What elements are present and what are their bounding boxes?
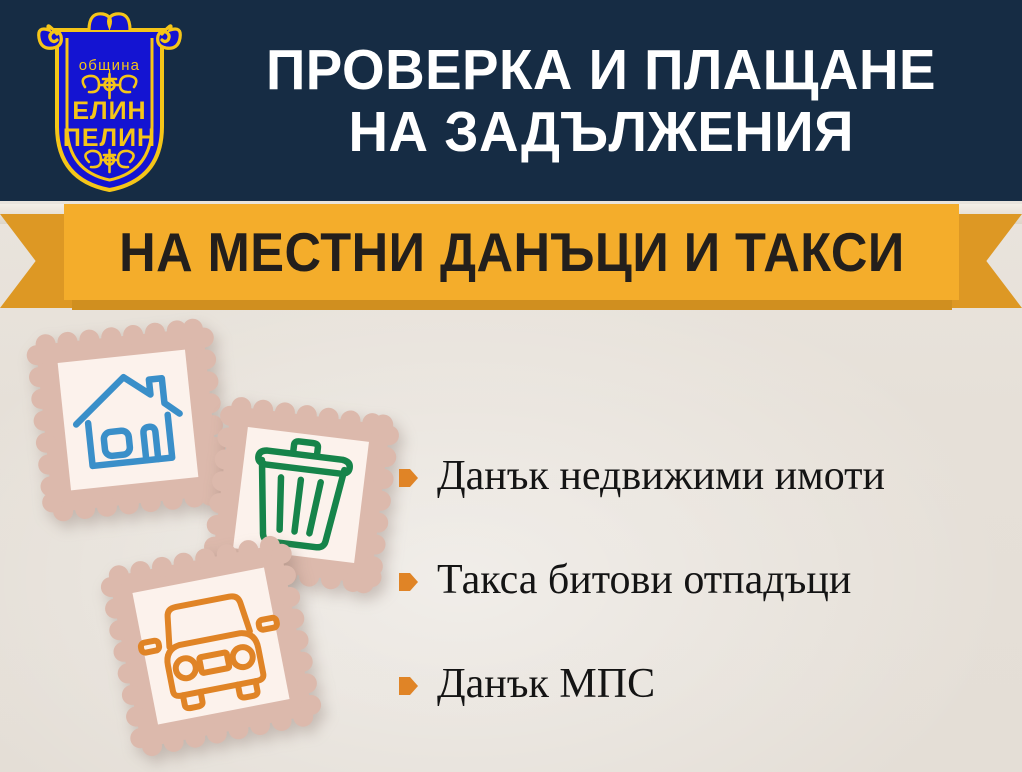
page-title: ПРОВЕРКА И ПЛАЩАНЕ НА ЗАДЪЛЖЕНИЯ [195, 14, 1007, 189]
page-title-line-1: ПРОВЕРКА И ПЛАЩАНЕ [266, 40, 936, 102]
stamp-card-car [92, 527, 330, 765]
svg-text:ПЕЛИН: ПЕЛИН [63, 124, 156, 152]
list-item[interactable]: Данък недвижими имоти [399, 424, 1009, 528]
arrow-bullet-icon [399, 571, 418, 593]
ribbon-body: НА МЕСТНИ ДАНЪЦИ И ТАКСИ [64, 204, 959, 300]
list-item-label: Данък недвижими имоти [437, 455, 885, 497]
coat-of-arms-icon: община ЕЛИН ПЕЛИН [27, 8, 192, 193]
arrow-bullet-icon [399, 675, 418, 697]
list-item-label: Такса битови отпадъци [437, 559, 851, 601]
arrow-bullet-icon [399, 467, 418, 489]
list-item[interactable]: Такса битови отпадъци [399, 528, 1009, 632]
subtitle-ribbon: НА МЕСТНИ ДАНЪЦИ И ТАКСИ [0, 196, 1022, 314]
page-title-line-2: НА ЗАДЪЛЖЕНИЯ [348, 102, 853, 164]
list-item-label: Данък МПС [437, 663, 655, 705]
poster-root: община ЕЛИН ПЕЛИН [0, 0, 1022, 772]
svg-text:община: община [79, 57, 140, 74]
ribbon-label: НА МЕСТНИ ДАНЪЦИ И ТАКСИ [119, 220, 905, 284]
tax-type-list: Данък недвижими имоти Такса битови отпад… [399, 424, 1009, 736]
list-item[interactable]: Данък МПС [399, 632, 1009, 736]
svg-text:ЕЛИН: ЕЛИН [72, 97, 146, 125]
